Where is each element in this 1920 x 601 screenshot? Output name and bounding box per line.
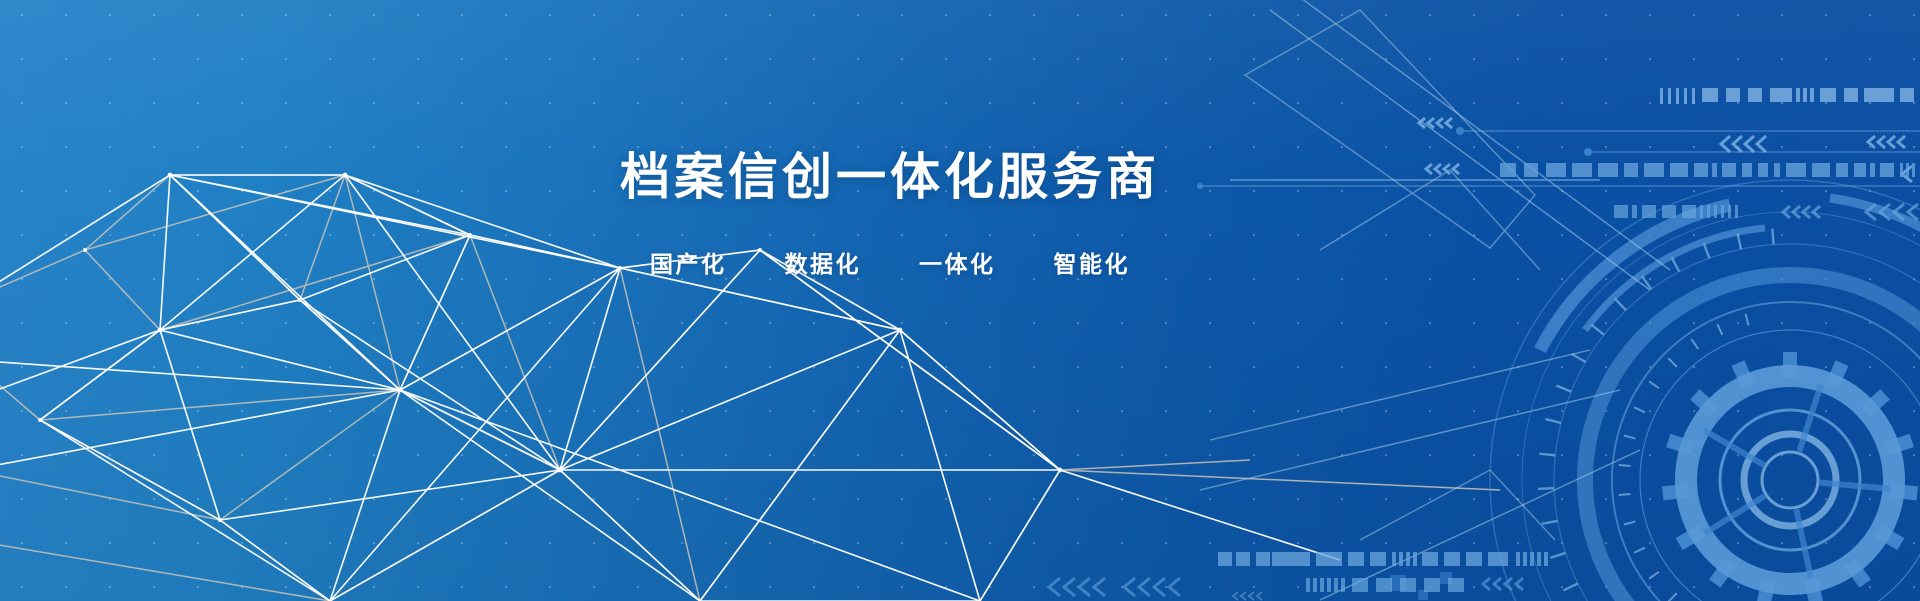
- dash-strip-top: [1660, 88, 1914, 104]
- dash-strip-mid: [1500, 163, 1915, 177]
- dash-strip-lower-right: [1614, 205, 1738, 218]
- hero-banner: 档案信创一体化服务商 国产化 数据化 一体化 智能化: [0, 0, 1920, 601]
- dash-strip-bottom-a: [1218, 552, 1548, 566]
- tech-decor-strips: [0, 0, 1920, 601]
- dash-strip-bottom-b: [1306, 578, 1464, 592]
